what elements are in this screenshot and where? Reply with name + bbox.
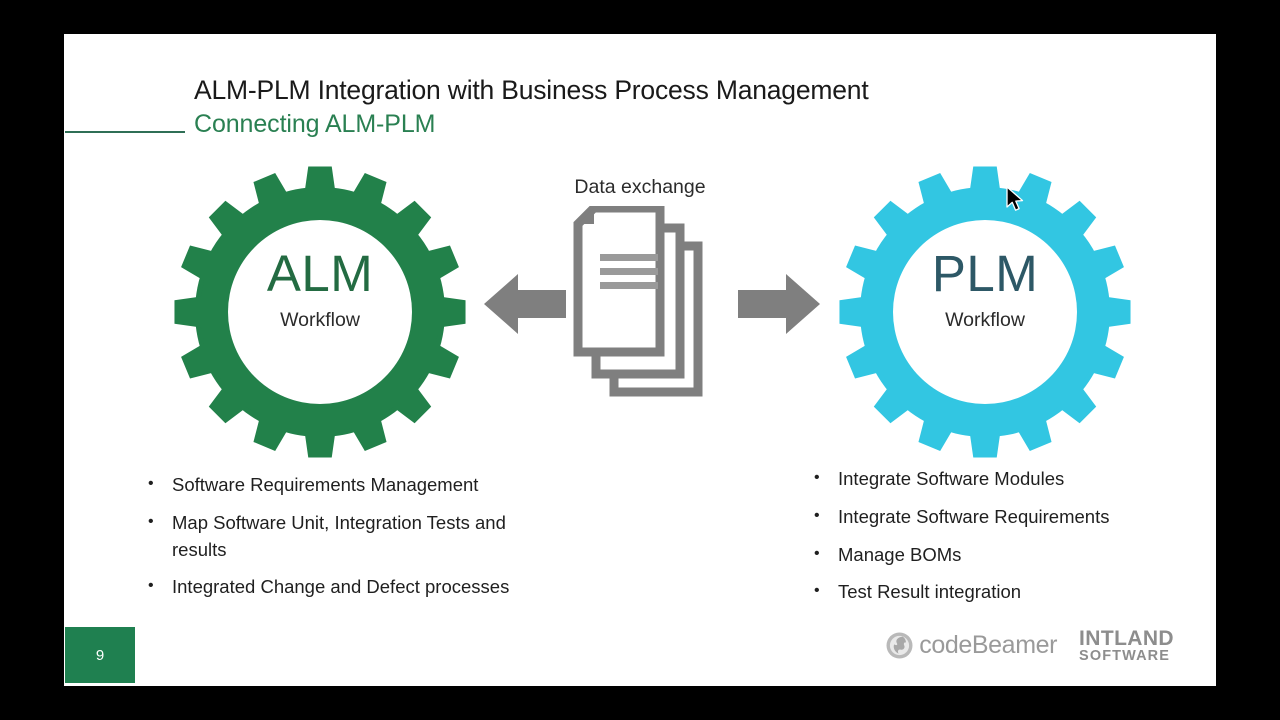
screen-canvas: ALM-PLM Integration with Business Proces… [0,0,1280,720]
intland-logo: INTLAND SOFTWARE [1079,628,1174,664]
plm-gear: PLM Workflow [839,166,1131,458]
arrow-right-icon [738,274,820,339]
bullet-dot-icon: • [814,466,838,489]
plm-bullet-text: Manage BOMs [838,542,961,569]
alm-bullet-text: Integrated Change and Defect processes [172,574,509,601]
bullet-dot-icon: • [148,574,172,597]
slide-surface: ALM-PLM Integration with Business Proces… [64,34,1216,686]
alm-gear: ALM Workflow [174,166,466,458]
plm-bullet-text: Integrate Software Requirements [838,504,1109,531]
title-rule [65,131,185,133]
arrow-left-icon [484,274,566,339]
alm-bullet-text: Map Software Unit, Integration Tests and… [172,510,548,564]
intland-line2: SOFTWARE [1079,649,1174,664]
bullet-dot-icon: • [814,504,838,527]
plm-bullet-item: •Test Result integration [814,579,1194,606]
codebeamer-globe-icon [886,632,913,659]
plm-bullet-list: •Integrate Software Modules•Integrate So… [814,466,1194,617]
alm-bullet-item: •Software Requirements Management [148,472,548,499]
footer-logos: codeBeamer INTLAND SOFTWARE [886,628,1174,664]
data-exchange-label: Data exchange [64,176,1216,199]
codebeamer-wordmark: codeBeamer [919,631,1057,660]
intland-line1: INTLAND [1079,628,1174,649]
plm-bullet-item: •Integrate Software Requirements [814,504,1194,531]
gear-icon [839,166,1131,458]
page-title: ALM-PLM Integration with Business Proces… [194,75,869,106]
alm-bullet-text: Software Requirements Management [172,472,478,499]
codebeamer-logo: codeBeamer [886,631,1057,660]
page-subtitle: Connecting ALM-PLM [194,110,435,139]
mouse-cursor [1006,186,1026,214]
document-stack-icon [570,206,720,403]
page-number-badge: 9 [65,627,135,683]
bullet-dot-icon: • [814,542,838,565]
plm-bullet-text: Integrate Software Modules [838,466,1064,493]
bullet-dot-icon: • [148,510,172,533]
plm-bullet-item: •Manage BOMs [814,542,1194,569]
bullet-dot-icon: • [814,579,838,602]
alm-bullet-item: •Integrated Change and Defect processes [148,574,548,601]
gear-icon [174,166,466,458]
plm-bullet-item: •Integrate Software Modules [814,466,1194,493]
alm-bullet-item: •Map Software Unit, Integration Tests an… [148,510,548,564]
alm-bullet-list: •Software Requirements Management•Map So… [148,472,548,612]
bullet-dot-icon: • [148,472,172,495]
plm-bullet-text: Test Result integration [838,579,1021,606]
